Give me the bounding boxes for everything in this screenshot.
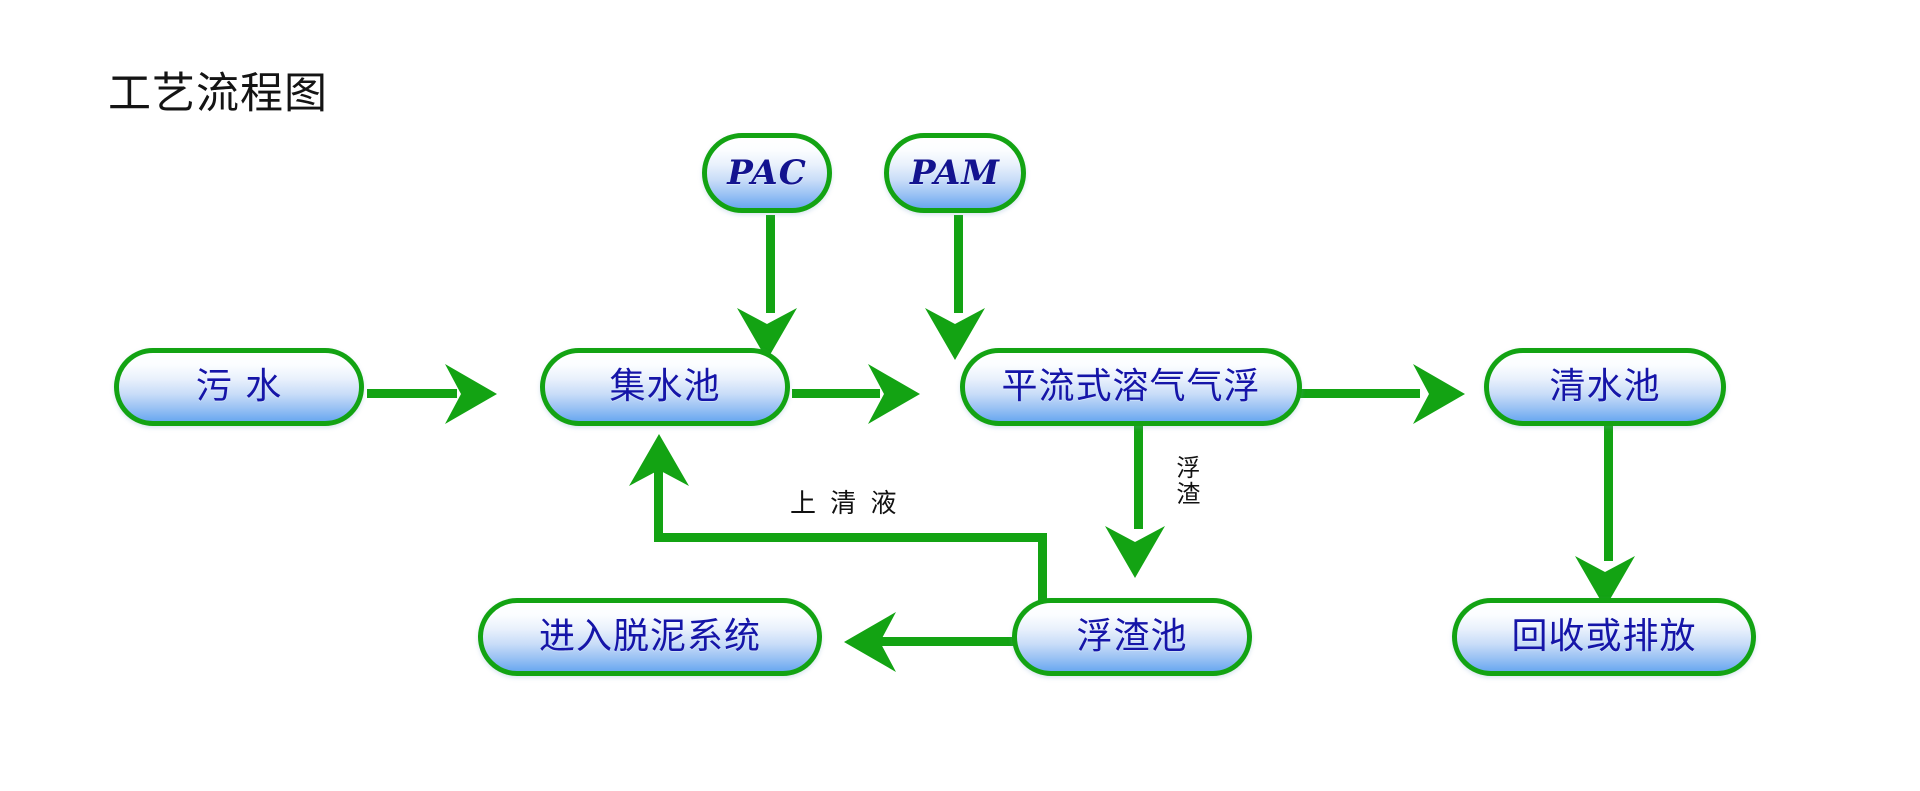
edge-supernatant-riser-right: [1038, 533, 1047, 601]
node-pam-label: PAM: [910, 156, 1000, 190]
node-collection-tank[interactable]: 集水池: [540, 348, 790, 426]
node-pam[interactable]: PAM: [884, 133, 1026, 213]
edge-clearwater-to-discharge-line: [1604, 425, 1613, 561]
node-sludge-dewatering-system[interactable]: 进入脱泥系统: [478, 598, 822, 676]
node-recycle-or-discharge[interactable]: 回收或排放: [1452, 598, 1756, 676]
node-pac[interactable]: PAC: [702, 133, 832, 213]
edge-daf-to-scumtank-line: [1134, 425, 1143, 529]
node-scum-tank-label: 浮渣池: [1076, 619, 1187, 655]
page-title: 工艺流程图: [108, 72, 328, 117]
node-recycle-or-discharge-label: 回收或排放: [1511, 619, 1696, 655]
node-pac-label: PAC: [727, 156, 807, 190]
node-wastewater[interactable]: 污 水: [114, 348, 364, 426]
node-sludge-dewatering-system-label: 进入脱泥系统: [539, 619, 761, 655]
node-dissolved-air-flotation-label: 平流式溶气气浮: [1001, 369, 1260, 405]
edge-label-supernatant: 上 清 液: [790, 490, 900, 519]
node-dissolved-air-flotation[interactable]: 平流式溶气气浮: [960, 348, 1302, 426]
edge-pam-to-daf-line: [954, 215, 963, 313]
node-scum-tank[interactable]: 浮渣池: [1012, 598, 1252, 676]
node-clear-water-tank[interactable]: 清水池: [1484, 348, 1726, 426]
edge-daf-to-clearwater-line: [1300, 389, 1420, 398]
edge-label-scum: 浮渣: [1172, 455, 1199, 507]
flowchart-canvas: 工艺流程图 浮渣: [0, 0, 1920, 791]
edge-pac-to-collection-line: [766, 215, 775, 313]
edge-supernatant-horizontal: [654, 533, 1047, 542]
node-collection-tank-label: 集水池: [609, 369, 720, 405]
node-clear-water-tank-label: 清水池: [1549, 369, 1660, 405]
node-wastewater-label: 污 水: [196, 369, 282, 405]
